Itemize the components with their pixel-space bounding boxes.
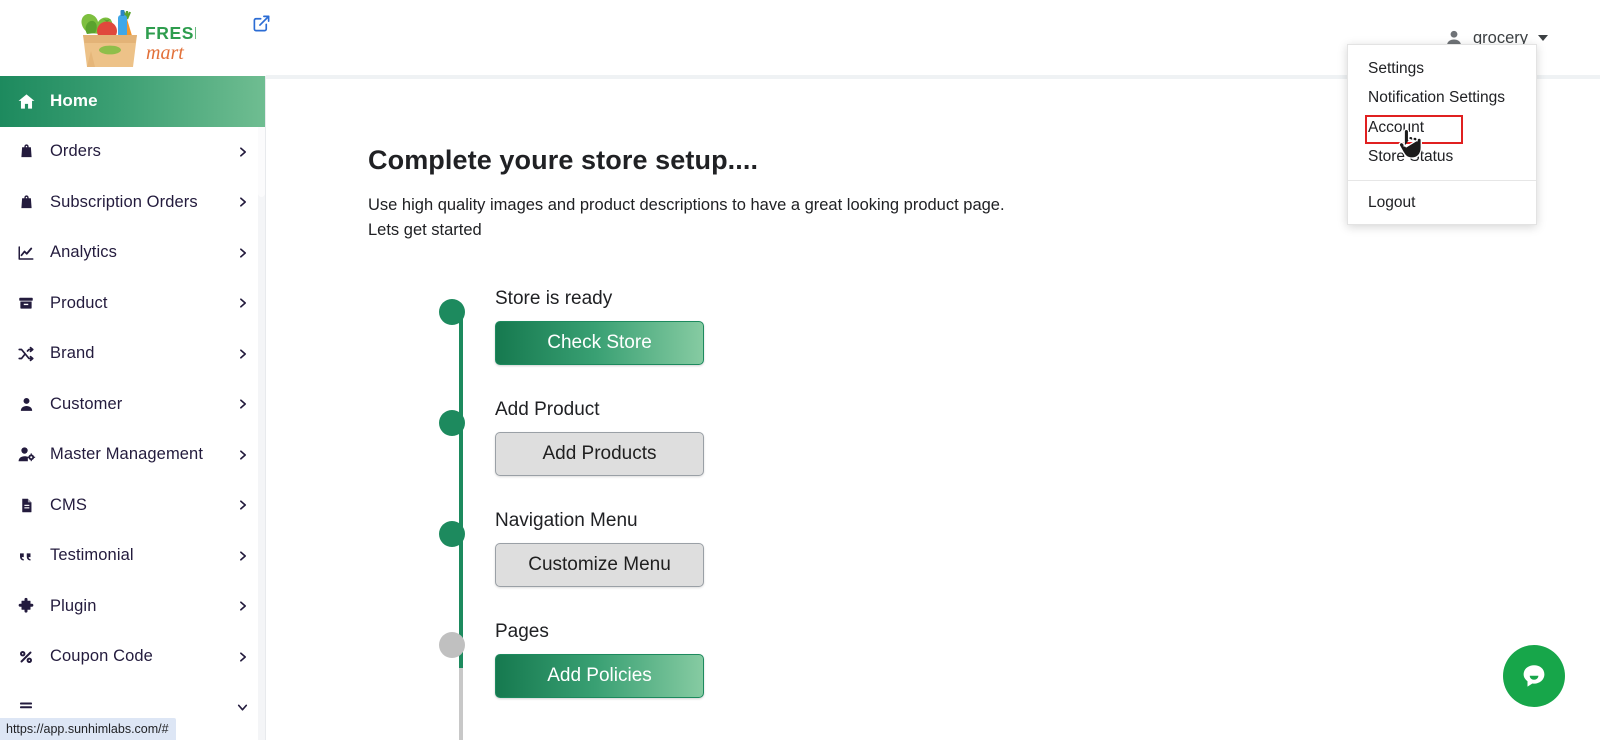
freshmart-logo-icon: FRESH mart (71, 7, 196, 69)
sidebar-item-brand[interactable]: Brand (0, 329, 265, 380)
sidebar-item-label: Subscription Orders (50, 193, 198, 212)
sidebar-item-label: Brand (50, 344, 95, 363)
sidebar-item-label: Coupon Code (50, 647, 153, 666)
page-description-line-2: Lets get started (368, 218, 1005, 243)
sidebar-item-label: Customer (50, 395, 122, 414)
page-description: Use high quality images and product desc… (368, 193, 1005, 243)
add-products-button[interactable]: Add Products (495, 432, 704, 476)
menu-item-settings[interactable]: Settings (1348, 54, 1536, 84)
sidebar-item-plugin[interactable]: Plugin (0, 581, 265, 632)
menu-divider (1348, 180, 1536, 181)
sidebar-item-coupon-code[interactable]: Coupon Code (0, 632, 265, 683)
svg-text:FRESH: FRESH (145, 23, 196, 43)
chevron-right-icon (236, 650, 249, 663)
document-icon (13, 494, 39, 516)
sidebar-item-product[interactable]: Product (0, 278, 265, 329)
menu-item-logout[interactable]: Logout (1348, 188, 1536, 218)
sidebar-item-label: Orders (50, 142, 101, 161)
chevron-down-icon (236, 701, 249, 714)
person-icon (13, 393, 39, 415)
sidebar-item-customer[interactable]: Customer (0, 379, 265, 430)
chevron-right-icon (236, 398, 249, 411)
chevron-right-icon (236, 347, 249, 360)
chevron-right-icon (236, 499, 249, 512)
sidebar-item-label: Testimonial (50, 546, 134, 565)
sidebar-item-orders[interactable]: Orders (0, 127, 265, 178)
external-link-icon (252, 14, 271, 33)
sidebar-item-label: CMS (50, 496, 87, 515)
menu-item-account[interactable]: Account (1348, 113, 1536, 143)
step-status-dot (439, 410, 465, 436)
sidebar-item-subscription-orders[interactable]: Subscription Orders (0, 177, 265, 228)
customize-menu-button[interactable]: Customize Menu (495, 543, 704, 587)
step-status-dot (439, 521, 465, 547)
brand-logo[interactable]: FRESH mart (0, 0, 266, 76)
sidebar-item-cms[interactable]: CMS (0, 480, 265, 531)
check-store-button[interactable]: Check Store (495, 321, 704, 365)
bag-icon (13, 191, 39, 213)
chevron-right-icon (236, 297, 249, 310)
step-status-dot (439, 632, 465, 658)
home-icon (13, 90, 39, 112)
status-bar-url: https://app.sunhimlabs.com/# (6, 722, 169, 736)
browser-status-bar: https://app.sunhimlabs.com/# (0, 718, 176, 740)
chevron-right-icon (236, 600, 249, 613)
chat-widget-button[interactable] (1503, 645, 1565, 707)
user-dropdown-menu: Settings Notification Settings Account S… (1347, 44, 1537, 225)
menu-item-store-status[interactable]: Store Status (1348, 143, 1536, 173)
step-title: Navigation Menu (495, 510, 638, 532)
sidebar-item-label: Plugin (50, 597, 96, 616)
sidebar-item-label: Analytics (50, 243, 117, 262)
step-title: Add Product (495, 399, 600, 421)
percent-icon (13, 646, 39, 668)
person-gear-icon (13, 444, 39, 466)
chevron-right-icon (236, 448, 249, 461)
external-link-button[interactable] (244, 6, 278, 40)
sidebar-item-analytics[interactable]: Analytics (0, 228, 265, 279)
bag-icon (13, 141, 39, 163)
sidebar-item-master-management[interactable]: Master Management (0, 430, 265, 481)
sidebar-navigation: Home Orders Subscription Orders (0, 76, 266, 740)
sidebar-item-testimonial[interactable]: Testimonial (0, 531, 265, 582)
add-policies-button[interactable]: Add Policies (495, 654, 704, 698)
box-icon (13, 292, 39, 314)
puzzle-icon (13, 595, 39, 617)
chart-line-icon (13, 242, 39, 264)
sidebar-item-label: Master Management (50, 445, 203, 464)
chevron-right-icon (236, 196, 249, 209)
sidebar-item-label: Product (50, 294, 108, 313)
shuffle-icon (13, 343, 39, 365)
chevron-down-icon (1538, 35, 1548, 41)
quote-icon (13, 545, 39, 567)
menu-item-notification-settings[interactable]: Notification Settings (1348, 84, 1536, 114)
step-title: Store is ready (495, 288, 612, 310)
chat-bubble-icon (1519, 661, 1549, 691)
chevron-right-icon (236, 549, 249, 562)
chevron-right-icon (236, 246, 249, 259)
chevron-right-icon (236, 145, 249, 158)
step-status-dot (439, 299, 465, 325)
sidebar-item-label: Home (50, 91, 98, 111)
sidebar-item-home[interactable]: Home (0, 76, 265, 127)
svg-text:mart: mart (146, 42, 184, 64)
page-title: Complete youre store setup.... (368, 145, 758, 176)
page-description-line-1: Use high quality images and product desc… (368, 193, 1005, 218)
menu-icon (13, 696, 39, 718)
step-title: Pages (495, 621, 549, 643)
